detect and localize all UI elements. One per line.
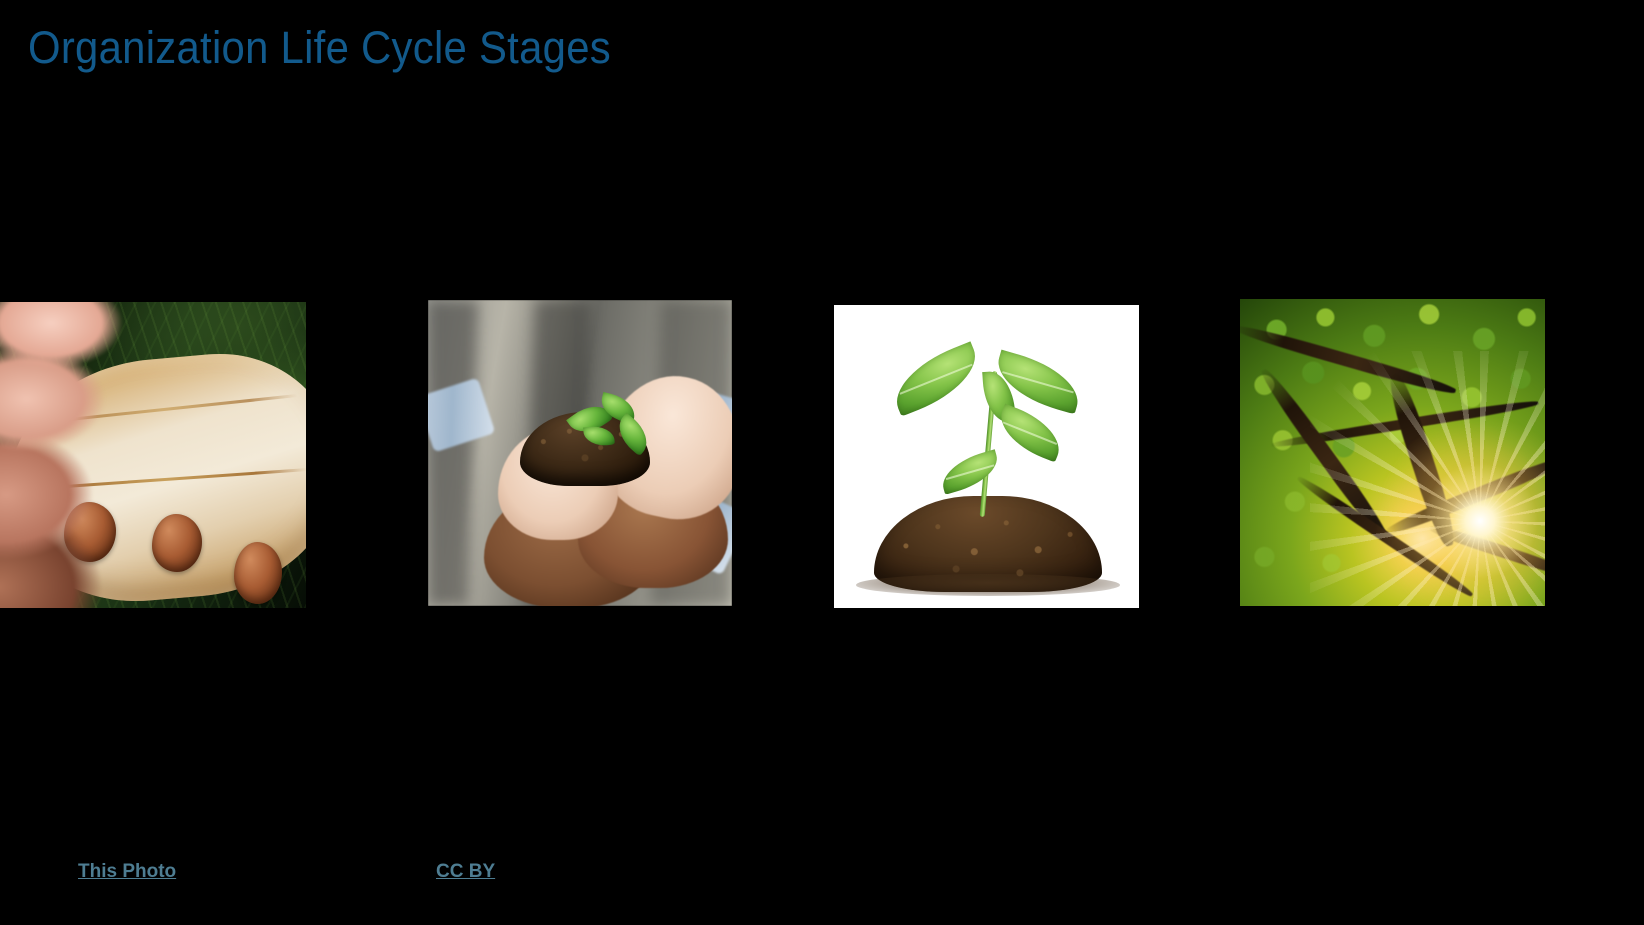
plant-leaf: [992, 404, 1069, 463]
leaf-vein: [1003, 422, 1057, 445]
leaf-vein: [1002, 371, 1073, 393]
pod-seed: [234, 542, 282, 604]
attribution-link-cc-by[interactable]: CC BY: [436, 862, 495, 882]
tree-canopy-photo[interactable]: [1240, 299, 1545, 606]
soil-mound: [874, 496, 1102, 592]
page-title: Organization Life Cycle Stages: [28, 20, 611, 76]
plant-leaf: [937, 449, 1003, 494]
attribution-link-this-photo[interactable]: This Photo: [78, 862, 176, 882]
pod-seed: [152, 514, 202, 572]
hands-holding-soil-photo[interactable]: [428, 300, 732, 606]
seedling-in-soil-photo[interactable]: [834, 305, 1139, 608]
slide-canvas: Organization Life Cycle Stages: [0, 0, 1644, 925]
fingers: [0, 302, 129, 608]
plant-leaf: [885, 341, 987, 416]
leaf-vein: [900, 364, 972, 394]
seed-pod-photo[interactable]: [0, 302, 306, 608]
